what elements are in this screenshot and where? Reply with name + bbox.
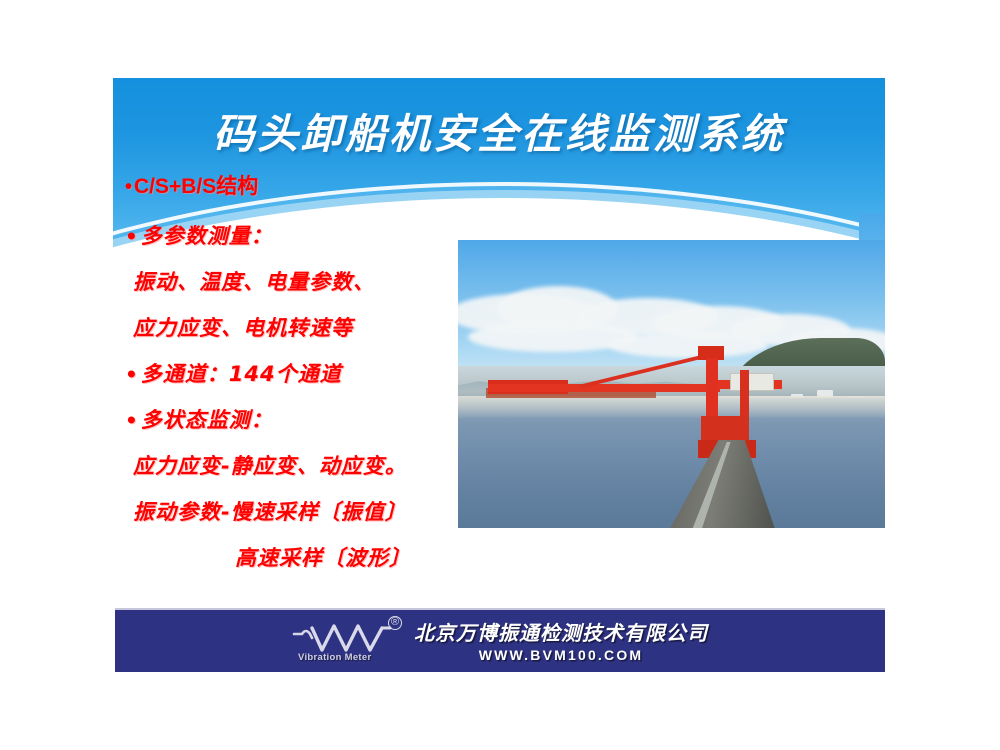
cloud <box>608 332 768 358</box>
crane-machinery-house <box>701 416 749 442</box>
list-item: 应力应变、电机转速等 <box>125 312 485 342</box>
slide-photo <box>458 240 885 528</box>
list-item: 多通道：144个通道 <box>125 358 485 388</box>
presentation-slide: 码头卸船机安全在线监测系统 C/S+B/S结构 多参数测量： 振动、温度、电量参… <box>113 78 885 672</box>
company-website: WWW.BVM100.COM <box>479 647 644 663</box>
list-item: 振动参数-慢速采样〔振值〕 <box>125 496 485 526</box>
crane-nameplate <box>730 373 774 391</box>
list-item: 多状态监测： <box>125 404 485 434</box>
crane-boom <box>488 384 720 392</box>
company-logo: ® Vibration Meter <box>292 618 400 662</box>
list-item: 应力应变-静应变、动应变。 <box>125 450 485 480</box>
page-title: 码头卸船机安全在线监测系统 <box>113 100 885 160</box>
list-item: C/S+B/S结构 <box>125 170 485 200</box>
list-item: 多参数测量： <box>125 220 485 250</box>
logo-subtitle: Vibration Meter <box>298 652 371 663</box>
company-name: 北京万博振通检测技术有限公司 <box>414 617 708 646</box>
registered-trademark-icon: ® <box>388 616 402 630</box>
waveform-logo-icon <box>292 620 396 654</box>
list-item: 高速采样〔波形〕 <box>125 542 485 572</box>
slide-footer: ® Vibration Meter 北京万博振通检测技术有限公司 WWW.BVM… <box>115 608 885 672</box>
bullet-list: C/S+B/S结构 多参数测量： 振动、温度、电量参数、 应力应变、电机转速等 … <box>125 170 485 588</box>
photo-water-sheen <box>458 396 885 418</box>
list-item: 振动、温度、电量参数、 <box>125 266 485 296</box>
